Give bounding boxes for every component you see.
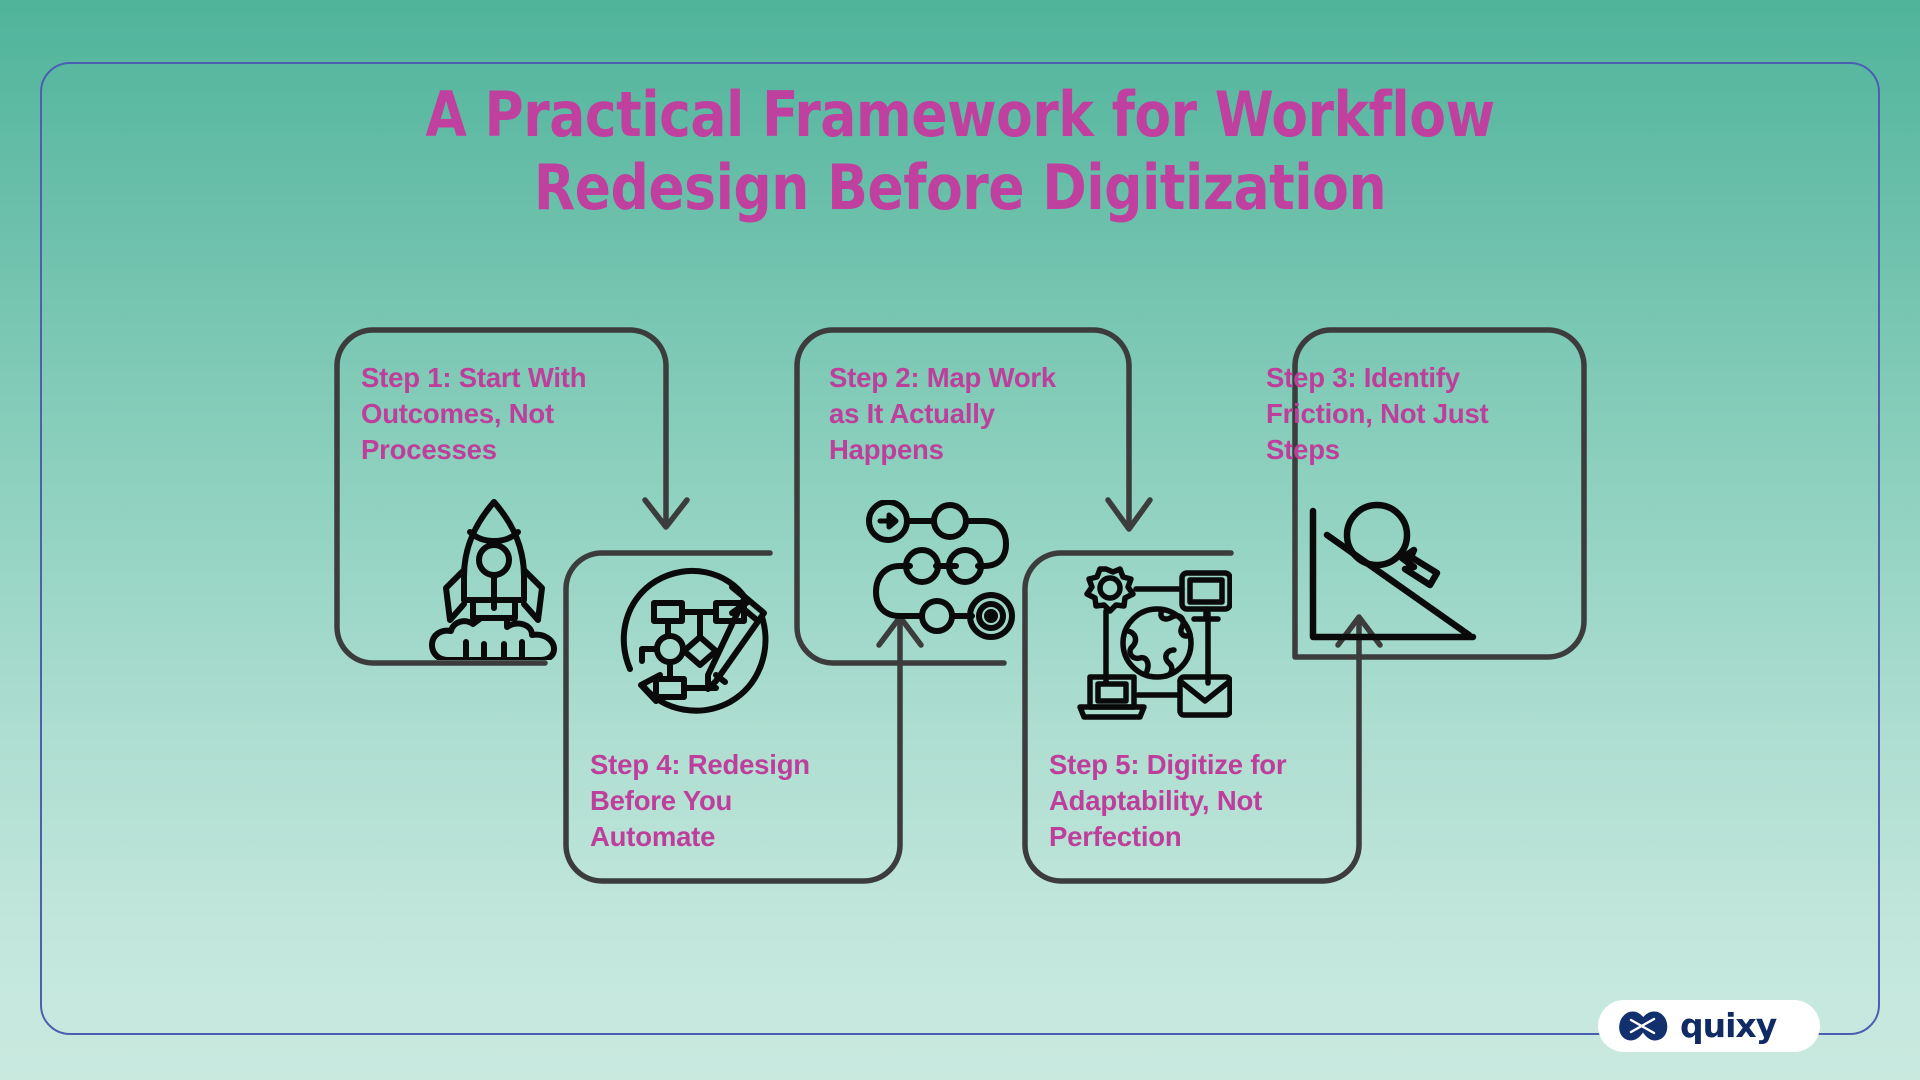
step-3-label: Step 3: Identify Friction, Not Just Step… — [1266, 360, 1566, 467]
globe-network-icon — [1066, 565, 1232, 725]
step-2-label: Step 2: Map Work as It Actually Happens — [829, 360, 1129, 467]
infinity-knot-icon — [1616, 1008, 1670, 1044]
step-4-label: Step 4: Redesign Before You Automate — [590, 747, 890, 854]
quixy-wordmark: quixy — [1680, 1009, 1776, 1042]
ball-on-incline-icon — [1297, 495, 1487, 655]
rocket-icon — [420, 492, 568, 660]
workflow-path-icon — [860, 500, 1024, 650]
framework-diagram: .stroke{ fill:none; stroke:#3C3C3C; stro… — [0, 0, 1920, 1080]
flowchart-pencil-icon — [612, 565, 778, 717]
step-1-label: Step 1: Start With Outcomes, Not Process… — [361, 360, 661, 467]
quixy-logo[interactable]: quixy — [1598, 1000, 1820, 1052]
step-5-label: Step 5: Digitize for Adaptability, Not P… — [1049, 747, 1359, 854]
